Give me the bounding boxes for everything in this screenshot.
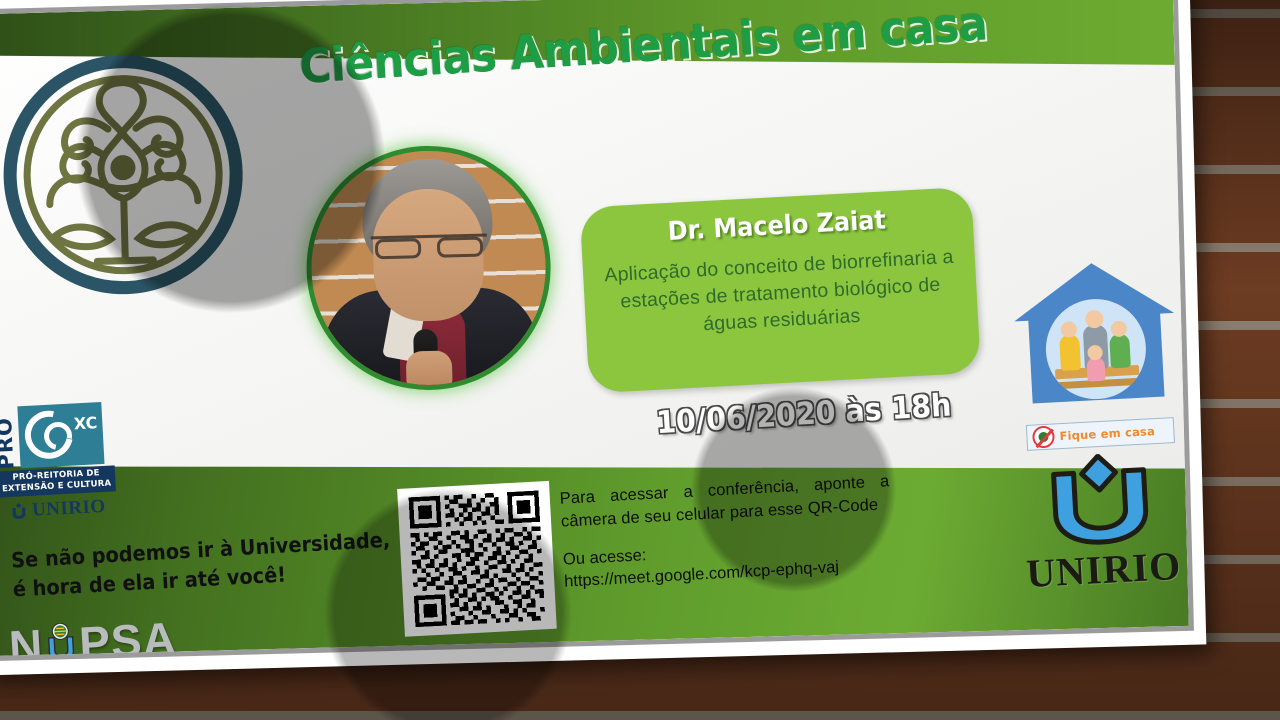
stay-home-icon: Fique em casa [1011,259,1180,435]
unirio-logo: UNIRIO [1013,450,1189,598]
proexc-logo: PRO XC PRÓ-REITORIA DE EXTENSÃO E CULTUR… [0,401,117,523]
slide-canvas: Ciências Ambientais em casa Dr. Macelo Z… [0,0,1189,656]
proexc-mark-icon: XC [17,402,104,468]
talk-title: Aplicação do conceito de biorrefinaria a… [601,244,961,344]
unirio-wordmark: UNIRIO [1018,541,1189,597]
portrait-hand [406,350,453,387]
proexc-university-name: UNIRIO [31,496,106,522]
nupsa-text-part2: PSA [78,611,178,656]
proexc-xc-text: XC [73,413,97,433]
talk-info-box: Dr. Macelo Zaiat Aplicação do conceito d… [580,187,981,394]
stay-home-text: Fique em casa [1059,424,1155,443]
family-member-girl [1059,334,1081,371]
qr-code[interactable] [397,481,557,637]
spiral-icon [16,402,82,468]
qr-code-image [407,490,548,627]
unirio-u-mark-icon [1023,450,1178,554]
family-member-boy [1109,333,1131,368]
access-instructions: Para acessar a conferência, aponte a câm… [559,470,894,592]
proexc-pro-text: PRO [0,416,18,469]
stay-home-banner: Fique em casa [1026,417,1175,451]
no-virus-icon [1032,425,1055,448]
poster-backdrop: Ciências Ambientais em casa Dr. Macelo Z… [0,0,1280,720]
proexc-caption: PRÓ-REITORIA DE EXTENSÃO E CULTURA [0,465,116,497]
family-member-toddler [1086,357,1105,382]
tree-of-life-icon [0,46,252,304]
event-date: 10/06/2020 às 18h [655,387,952,441]
nupsa-text-part1: N [8,618,45,656]
slide-inner-border: Ciências Ambientais em casa Dr. Macelo Z… [0,0,1194,661]
nupsa-u-icon [43,622,79,656]
unirio-u-icon [10,502,29,521]
printed-slide-frame: Ciências Ambientais em casa Dr. Macelo Z… [0,0,1206,675]
glasses-icon [371,233,487,256]
speaker-name: Dr. Macelo Zaiat [613,202,942,249]
speaker-portrait [309,148,549,388]
